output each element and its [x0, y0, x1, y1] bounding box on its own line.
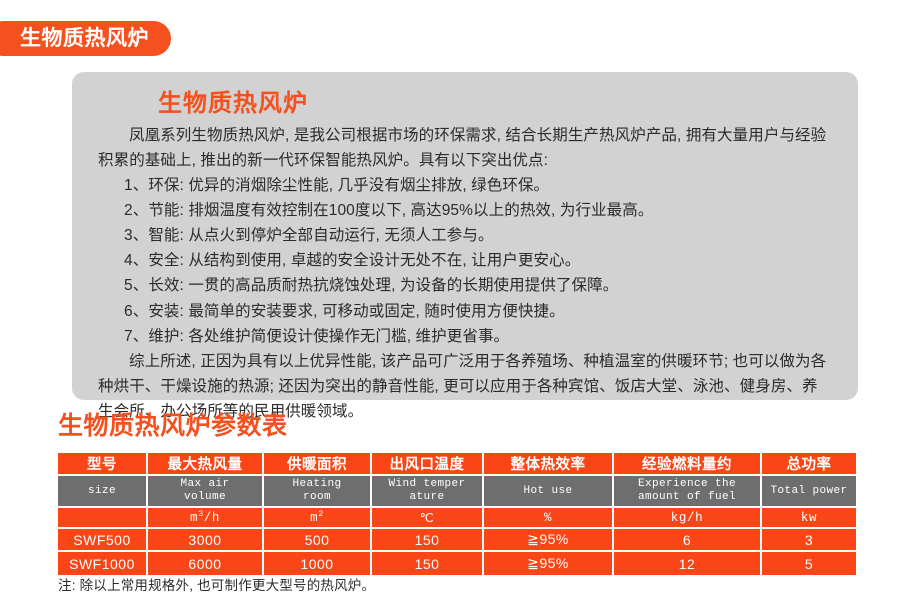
- table-cell: 6000: [148, 552, 264, 575]
- table-row: SWF500 3000 500 150 ≧95% 6 3: [58, 529, 856, 552]
- table-cell: 5: [762, 552, 856, 575]
- table-cell: ≧95%: [484, 552, 614, 575]
- table-row: SWF1000 6000 1000 150 ≧95% 12 5: [58, 552, 856, 575]
- table-unit-cell: m3/h: [148, 508, 264, 529]
- table-cell: ≧95%: [484, 529, 614, 552]
- table-header-cell-en: Wind temperature: [372, 476, 484, 508]
- table-cell: 3: [762, 529, 856, 552]
- table-unit-cell: %: [484, 508, 614, 529]
- table-unit-cell: [58, 508, 148, 529]
- table-header-cell: 供暖面积: [264, 453, 372, 476]
- table-cell: 500: [264, 529, 372, 552]
- table-header-cell-en: Heatingroom: [264, 476, 372, 508]
- table-cell: 6: [614, 529, 762, 552]
- description-title: 生物质热风炉: [158, 90, 832, 119]
- description-panel: 生物质热风炉 凤凰系列生物质热风炉, 是我公司根据市场的环保需求, 结合长期生产…: [72, 72, 858, 400]
- table-cell: SWF1000: [58, 552, 148, 575]
- parameter-table: 型号 最大热风量 供暖面积 出风口温度 整体热效率 经验燃料量约 总功率 siz…: [58, 453, 856, 575]
- table-header-row-cn: 型号 最大热风量 供暖面积 出风口温度 整体热效率 经验燃料量约 总功率: [58, 453, 856, 476]
- table-header-cell: 整体热效率: [484, 453, 614, 476]
- table-cell: 3000: [148, 529, 264, 552]
- table-note: 注: 除以上常用规格外, 也可制作更大型号的热风炉。: [58, 578, 375, 594]
- table-header-cell-en: Hot use: [484, 476, 614, 508]
- table-header-cell: 经验燃料量约: [614, 453, 762, 476]
- page-badge: 生物质热风炉: [0, 21, 171, 56]
- table-cell: 12: [614, 552, 762, 575]
- table-header-cell: 出风口温度: [372, 453, 484, 476]
- table-cell: 1000: [264, 552, 372, 575]
- table-cell: 150: [372, 529, 484, 552]
- table-header-cell: 总功率: [762, 453, 856, 476]
- description-body: 凤凰系列生物质热风炉, 是我公司根据市场的环保需求, 结合长期生产热风炉产品, …: [98, 123, 832, 424]
- table-unit-cell: kw: [762, 508, 856, 529]
- table-header-cell-en: size: [58, 476, 148, 508]
- table-unit-row: m3/h m2 ℃ % kg/h kw: [58, 508, 856, 529]
- table-unit-cell: kg/h: [614, 508, 762, 529]
- description-point: 6、安装: 最简单的安装要求, 可移动或固定, 随时使用方便快捷。: [98, 299, 832, 324]
- description-point: 2、节能: 排烟温度有效控制在100度以下, 高达95%以上的热效, 为行业最高…: [98, 198, 832, 223]
- table-unit-cell: m2: [264, 508, 372, 529]
- table-header-cell-en: Total power: [762, 476, 856, 508]
- table-unit-cell: ℃: [372, 508, 484, 529]
- description-point: 5、长效: 一贯的高品质耐热抗烧蚀处理, 为设备的长期使用提供了保障。: [98, 273, 832, 298]
- description-point: 4、安全: 从结构到使用, 卓越的安全设计无处不在, 让用户更安心。: [98, 248, 832, 273]
- table-cell: 150: [372, 552, 484, 575]
- page-badge-label: 生物质热风炉: [20, 28, 149, 49]
- description-point: 7、维护: 各处维护简便设计使操作无门槛, 维护更省事。: [98, 324, 832, 349]
- description-point: 3、智能: 从点火到停炉全部自动运行, 无须人工参与。: [98, 223, 832, 248]
- table-header-row-en: size Max airvolume Heatingroom Wind temp…: [58, 476, 856, 508]
- description-point: 1、环保: 优异的消烟除尘性能, 几乎没有烟尘排放, 绿色环保。: [98, 173, 832, 198]
- table-cell: SWF500: [58, 529, 148, 552]
- table-header-cell-en: Max airvolume: [148, 476, 264, 508]
- parameter-table-title: 生物质热风炉参数表: [58, 414, 288, 439]
- table-header-cell: 最大热风量: [148, 453, 264, 476]
- table-header-cell: 型号: [58, 453, 148, 476]
- description-intro: 凤凰系列生物质热风炉, 是我公司根据市场的环保需求, 结合长期生产热风炉产品, …: [98, 123, 832, 173]
- table-header-cell-en: Experience theamount of fuel: [614, 476, 762, 508]
